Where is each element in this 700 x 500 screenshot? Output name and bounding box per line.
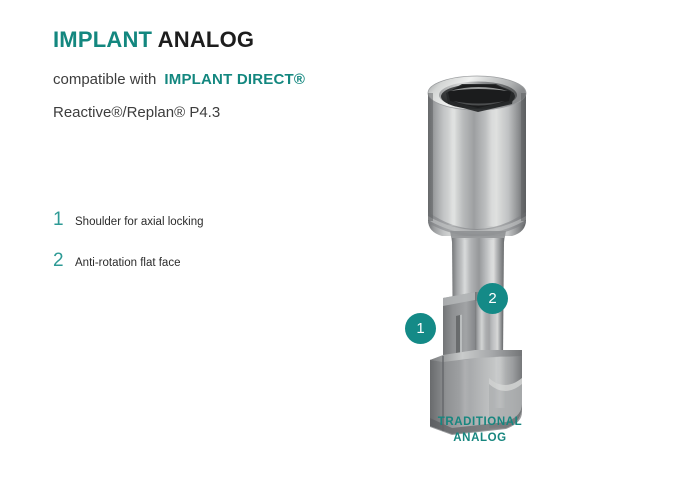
header-text-block: IMPLANT ANALOG compatible withIMPLANT DI… [53, 28, 413, 122]
model-line: Reactive®/Replan® P4.3 [53, 104, 413, 122]
list-item: 1 Shoulder for axial locking [53, 210, 383, 230]
callout-badge-1[interactable]: 1 [405, 313, 436, 344]
compatibility-line: compatible withIMPLANT DIRECT® [53, 71, 413, 89]
feature-label: Shoulder for axial locking [75, 215, 204, 230]
figure-caption-line2: ANALOG [390, 431, 570, 447]
figure-caption: TRADITIONAL ANALOG [390, 415, 570, 446]
list-item: 2 Anti-rotation flat face [53, 251, 383, 271]
figure-caption-line1: TRADITIONAL [390, 415, 570, 431]
feature-number: 2 [53, 251, 75, 270]
feature-label: Anti-rotation flat face [75, 256, 180, 271]
page-title-secondary: ANALOG [158, 27, 255, 52]
page-title: IMPLANT ANALOG [53, 28, 413, 52]
product-illustration [390, 60, 570, 450]
head-right-edge [521, 93, 526, 221]
head-brush-streak [448, 96, 457, 226]
feature-number: 1 [53, 210, 75, 229]
page-title-primary: IMPLANT [53, 27, 152, 52]
base-brush-streak [494, 356, 506, 408]
feature-list: 1 Shoulder for axial locking 2 Anti-rota… [53, 210, 383, 271]
callout-badge-2[interactable]: 2 [477, 283, 508, 314]
implant-head-body [428, 93, 526, 236]
head-brush-streak [486, 96, 498, 226]
compatibility-prefix: compatible with [53, 71, 156, 88]
head-left-edge [428, 93, 433, 221]
implant-analog-image [390, 60, 570, 450]
compatibility-brand: IMPLANT DIRECT® [164, 71, 305, 88]
page-root: IMPLANT ANALOG compatible withIMPLANT DI… [0, 0, 700, 500]
